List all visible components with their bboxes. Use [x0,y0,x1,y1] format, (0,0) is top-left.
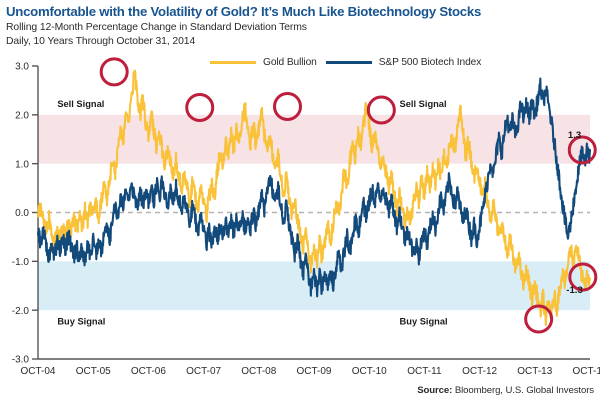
chart-plot-area: 3.02.01.00.0-1.0-2.0-3.0OCT-04OCT-05OCT-… [0,0,600,400]
x-tick-label: OCT-09 [296,366,331,377]
y-tick-label: 1.0 [15,159,29,170]
y-tick-label: 3.0 [15,62,29,73]
band-label-sell-signal: Sell Signal [400,99,447,109]
x-tick-label: OCT-13 [517,366,552,377]
source-note: Source: Bloomberg, U.S. Global Investors [417,385,594,396]
source-label: Source: [417,385,452,396]
value-annotation: 1.3 [568,130,581,141]
x-tick-label: OCT-07 [186,366,221,377]
y-tick-label: 0.0 [15,208,29,219]
x-tick-label: OCT-08 [241,366,276,377]
highlight-circle [101,59,127,85]
x-tick-label: OCT-12 [462,366,497,377]
y-tick-label: -1.0 [12,257,30,268]
y-tick-label: 2.0 [15,110,29,121]
value-annotation: -1.3 [566,285,583,296]
y-tick-label: -3.0 [12,355,30,366]
band-label-buy-signal: Buy Signal [400,316,448,326]
x-tick-label: OCT-10 [352,366,387,377]
x-tick-label: OCT-05 [76,366,111,377]
x-tick-label: OCT-11 [407,366,442,377]
y-tick-label: -2.0 [12,306,30,317]
source-text: Bloomberg, U.S. Global Investors [452,385,594,396]
x-tick-label: OCT-06 [131,366,166,377]
chart-root: Uncomfortable with the Volatility of Gol… [0,0,600,400]
band-label-sell-signal: Sell Signal [57,99,104,109]
band-label-buy-signal: Buy Signal [57,316,105,326]
x-tick-label: OCT-14 [572,366,600,377]
x-tick-label: OCT-04 [20,366,55,377]
